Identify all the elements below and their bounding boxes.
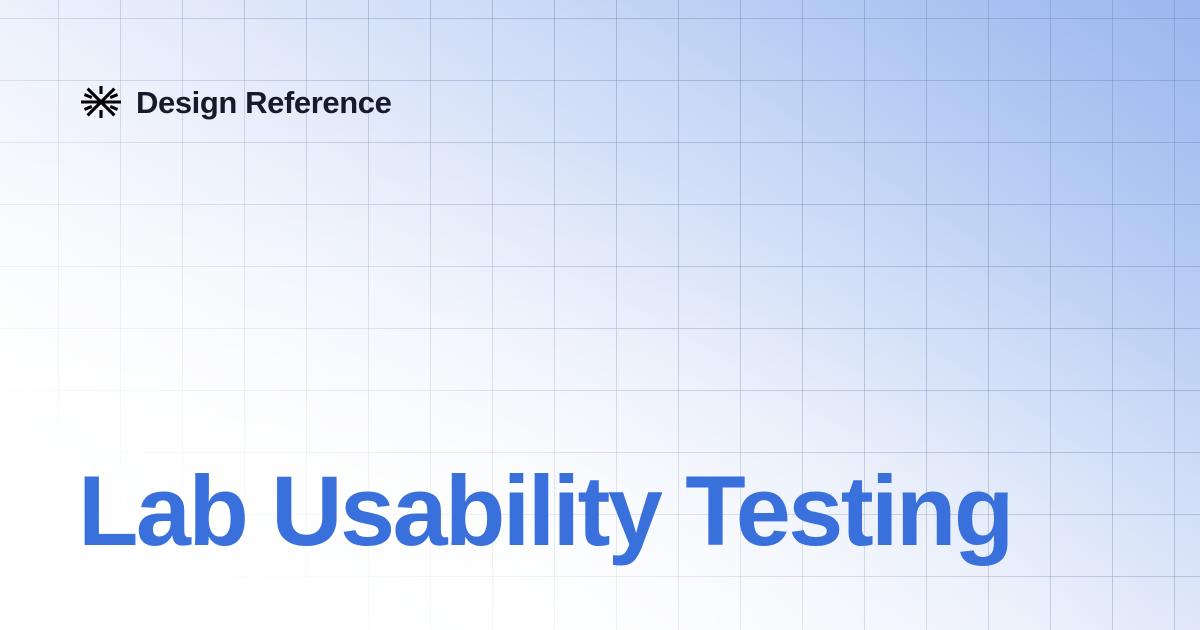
og-banner-card: Design Reference Lab Usability Testing <box>0 0 1200 630</box>
brand-name-label: Design Reference <box>136 87 391 118</box>
asterisk-starburst-icon <box>80 81 122 123</box>
page-title: Lab Usability Testing <box>78 461 1120 562</box>
brand-row: Design Reference <box>80 79 391 125</box>
